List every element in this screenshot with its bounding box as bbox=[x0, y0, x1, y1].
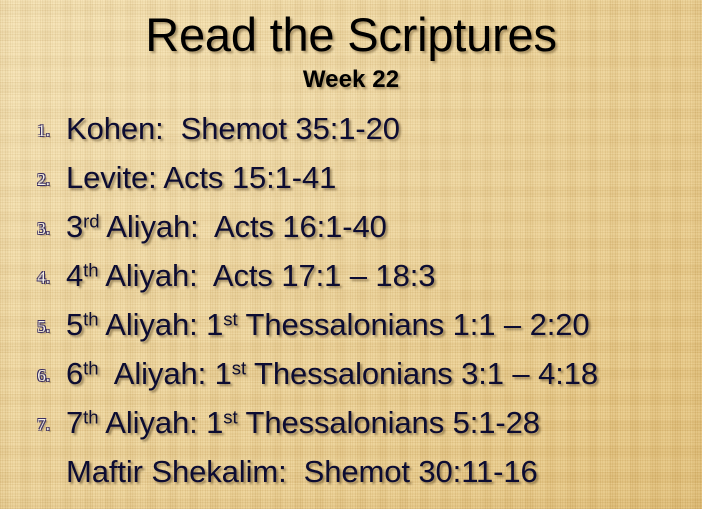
list-item-text: 3rd Aliyah: Acts 16:1-40 bbox=[66, 207, 387, 247]
list-item-number: 1. bbox=[14, 122, 50, 139]
reading-ordinal-suffix: rd bbox=[83, 211, 99, 232]
list-item-text: Kohen: Shemot 35:1-20 bbox=[66, 109, 400, 149]
list-item-number: 4. bbox=[14, 269, 50, 286]
list-item-text: 4th Aliyah: Acts 17:1 – 18:3 bbox=[66, 256, 435, 296]
list-item-number: 3. bbox=[14, 220, 50, 237]
scripture-reading-list: 1. Kohen: Shemot 35:1-20 2. Levite: Acts… bbox=[0, 104, 702, 496]
list-item: 1. Kohen: Shemot 35:1-20 bbox=[0, 104, 702, 153]
slide-content: Read the Scriptures Week 22 1. Kohen: Sh… bbox=[0, 0, 702, 509]
list-item: 3. 3rd Aliyah: Acts 16:1-40 bbox=[0, 202, 702, 251]
reading-body: Levite: Acts 15:1-41 bbox=[66, 160, 336, 195]
list-item-text: Maftir Shekalim: Shemot 30:11-16 bbox=[66, 452, 538, 492]
slide-subtitle: Week 22 bbox=[0, 65, 702, 94]
list-item: 6. 6th Aliyah: 1st Thessalonians 3:1 – 4… bbox=[0, 349, 702, 398]
reading-book-ordinal-suffix: st bbox=[232, 358, 246, 379]
slide-title: Read the Scriptures bbox=[0, 8, 702, 61]
reading-body: Aliyah: 1 bbox=[98, 405, 223, 440]
list-item: 5. 5th Aliyah: 1st Thessalonians 1:1 – 2… bbox=[0, 300, 702, 349]
reading-ordinal-suffix: th bbox=[83, 407, 98, 428]
presentation-slide: Read the Scriptures Week 22 1. Kohen: Sh… bbox=[0, 0, 702, 509]
list-item-text: 6th Aliyah: 1st Thessalonians 3:1 – 4:18 bbox=[66, 354, 598, 394]
reading-ordinal: 5 bbox=[66, 307, 83, 342]
reading-body: Aliyah: Acts 16:1-40 bbox=[100, 209, 387, 244]
reading-body: Maftir Shekalim: Shemot 30:11-16 bbox=[66, 454, 538, 489]
list-item-maftir: Maftir Shekalim: Shemot 30:11-16 bbox=[0, 447, 702, 496]
list-item: 2. Levite: Acts 15:1-41 bbox=[0, 153, 702, 202]
reading-ordinal: 6 bbox=[66, 356, 83, 391]
reading-body-continued: Thessalonians 1:1 – 2:20 bbox=[238, 307, 590, 342]
list-item-text: Levite: Acts 15:1-41 bbox=[66, 158, 336, 198]
list-item-number: 6. bbox=[14, 367, 50, 384]
reading-body: Aliyah: Acts 17:1 – 18:3 bbox=[98, 258, 435, 293]
reading-ordinal: 3 bbox=[66, 209, 83, 244]
reading-ordinal-suffix: th bbox=[83, 309, 98, 330]
list-item: 7. 7th Aliyah: 1st Thessalonians 5:1-28 bbox=[0, 398, 702, 447]
list-item: 4. 4th Aliyah: Acts 17:1 – 18:3 bbox=[0, 251, 702, 300]
reading-body: Aliyah: 1 bbox=[98, 356, 231, 391]
list-item-text: 7th Aliyah: 1st Thessalonians 5:1-28 bbox=[66, 403, 540, 443]
reading-body-continued: Thessalonians 3:1 – 4:18 bbox=[246, 356, 598, 391]
reading-ordinal-suffix: th bbox=[83, 260, 98, 281]
reading-ordinal: 4 bbox=[66, 258, 83, 293]
list-item-text: 5th Aliyah: 1st Thessalonians 1:1 – 2:20 bbox=[66, 305, 590, 345]
reading-book-ordinal-suffix: st bbox=[223, 309, 237, 330]
list-item-number: 7. bbox=[14, 416, 50, 433]
reading-ordinal-suffix: th bbox=[83, 358, 98, 379]
reading-body: Aliyah: 1 bbox=[98, 307, 223, 342]
reading-ordinal: 7 bbox=[66, 405, 83, 440]
reading-body-continued: Thessalonians 5:1-28 bbox=[238, 405, 540, 440]
list-item-number: 5. bbox=[14, 318, 50, 335]
reading-book-ordinal-suffix: st bbox=[223, 407, 237, 428]
list-item-number: 2. bbox=[14, 171, 50, 188]
reading-body: Kohen: Shemot 35:1-20 bbox=[66, 111, 400, 146]
